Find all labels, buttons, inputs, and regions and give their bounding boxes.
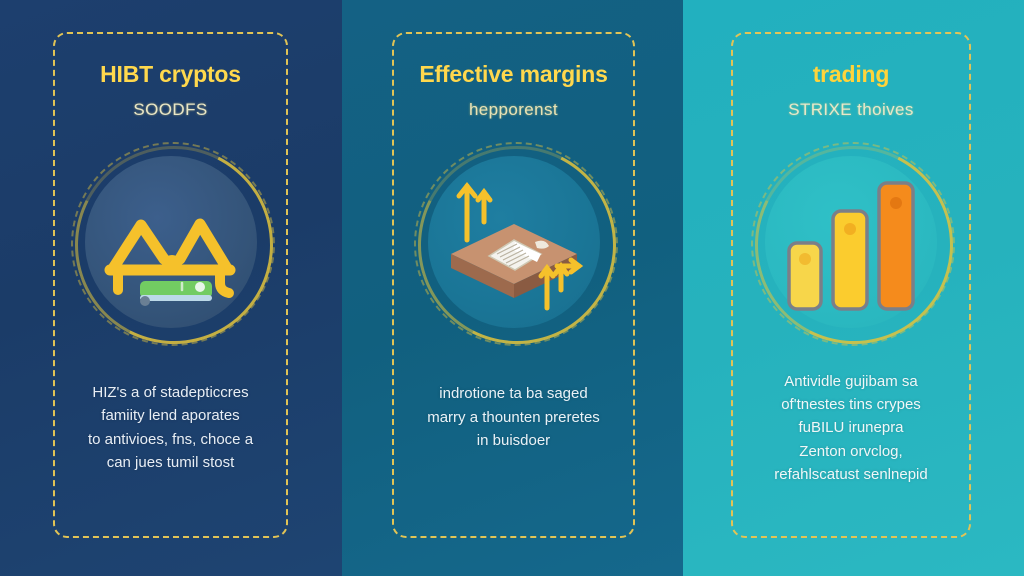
open-book-platform-icon — [429, 162, 599, 322]
body-line: marry a thounten preretes — [427, 406, 600, 429]
card-subtitle: SOODFS — [133, 100, 207, 120]
info-card-hibt-cryptos[interactable]: HIBT cryptos SOODFS — [53, 32, 288, 538]
body-line: HIZ's a of stadepticcres — [88, 381, 253, 404]
card-subtitle: STRIXE thoives — [788, 100, 914, 120]
card-icon-medallion — [751, 142, 951, 342]
body-line: refahlscatust senlnepid — [774, 463, 927, 486]
body-line: can jues tumil stost — [88, 451, 253, 474]
card-subtitle: hepporenst — [469, 100, 558, 120]
infographic-canvas: HIBT cryptos SOODFS — [0, 0, 1024, 576]
body-line: Antividle gujibam sa — [774, 370, 927, 393]
mountain-peaks-icon — [96, 177, 246, 307]
bar-large — [879, 183, 913, 309]
bar-medium — [833, 211, 867, 309]
body-line: in buisdoer — [427, 429, 600, 452]
card-title: Effective margins — [419, 62, 607, 87]
info-card-trading[interactable]: trading STRIXE thoives — [731, 32, 971, 538]
bar-chart-icon — [771, 167, 931, 317]
body-line: to antivioes, fns, choce a — [88, 428, 253, 451]
card-icon-medallion — [71, 142, 271, 342]
arrow-up-right-icon — [541, 260, 579, 308]
body-line: fuBILU irunepra — [774, 416, 927, 439]
card-icon-medallion — [414, 142, 614, 342]
info-card-effective-margins[interactable]: Effective margins hepporenst — [392, 32, 635, 538]
card-body-text: indrotione ta ba saged marry a thounten … — [427, 382, 600, 452]
body-line: indrotione ta ba saged — [427, 382, 600, 405]
card-body-text: HIZ's a of stadepticcres famiity lend ap… — [88, 381, 253, 474]
green-vehicle-icon — [140, 281, 212, 306]
bar-small — [789, 243, 821, 309]
body-line: famiity lend aporates — [88, 404, 253, 427]
card-body-text: Antividle gujibam sa of'tnestes tins cry… — [774, 370, 927, 486]
body-line: of'tnestes tins crypes — [774, 393, 927, 416]
arrow-up-left-icon — [459, 186, 490, 240]
body-line: Zenton orvclog, — [774, 440, 927, 463]
card-title: HIBT cryptos — [100, 62, 241, 87]
card-title: trading — [813, 62, 890, 87]
